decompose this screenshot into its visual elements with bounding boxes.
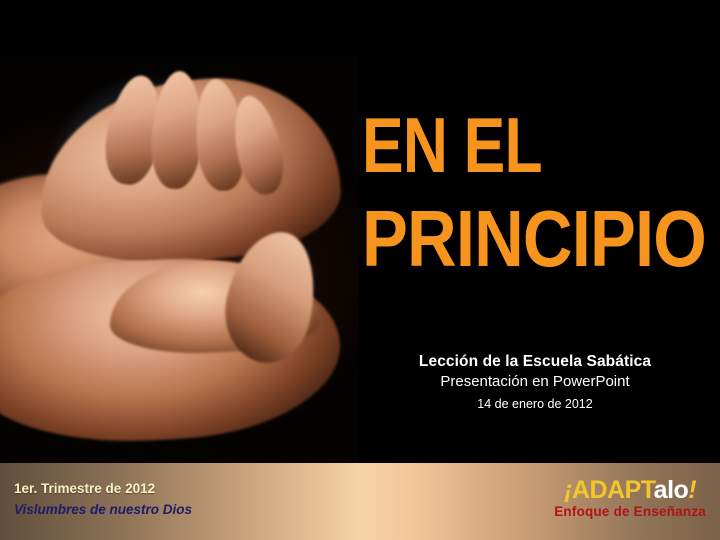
adaptalo-tagline: Enfoque de Enseñanza (554, 504, 706, 519)
hands-holding-earth-photo (0, 55, 359, 463)
subtitle-lesson-label: Lección de la Escuela Sabática (360, 352, 710, 371)
footer-quarter-label: 1er. Trimestre de 2012 (14, 480, 192, 498)
logo-excl-open: ¡ (564, 476, 572, 504)
adaptalo-wordmark: ¡ADAPTalo! (554, 477, 706, 503)
presentation-slide: EN EL PRINCIPIO Lección de la Escuela Sa… (0, 0, 720, 540)
title-line-2: PRINCIPIO (362, 201, 654, 278)
footer-left-text: 1er. Trimestre de 2012 Vislumbres de nue… (14, 480, 192, 519)
title-line-1: EN EL (362, 108, 634, 183)
slide-subtitle-block: Lección de la Escuela Sabática Presentac… (360, 352, 710, 412)
footer-bar: 1er. Trimestre de 2012 Vislumbres de nue… (0, 463, 720, 540)
subtitle-format-label: Presentación en PowerPoint (360, 372, 710, 392)
subtitle-date-label: 14 de enero de 2012 (360, 396, 710, 412)
adaptalo-logo: ¡ADAPTalo! Enfoque de Enseñanza (554, 477, 706, 519)
slide-title: EN EL PRINCIPIO (362, 108, 702, 278)
logo-excl-close: ! (688, 476, 696, 504)
logo-adapt: ADAPT (572, 476, 654, 504)
footer-theme-label: Vislumbres de nuestro Dios (14, 501, 192, 519)
logo-alo: alo (654, 476, 689, 504)
